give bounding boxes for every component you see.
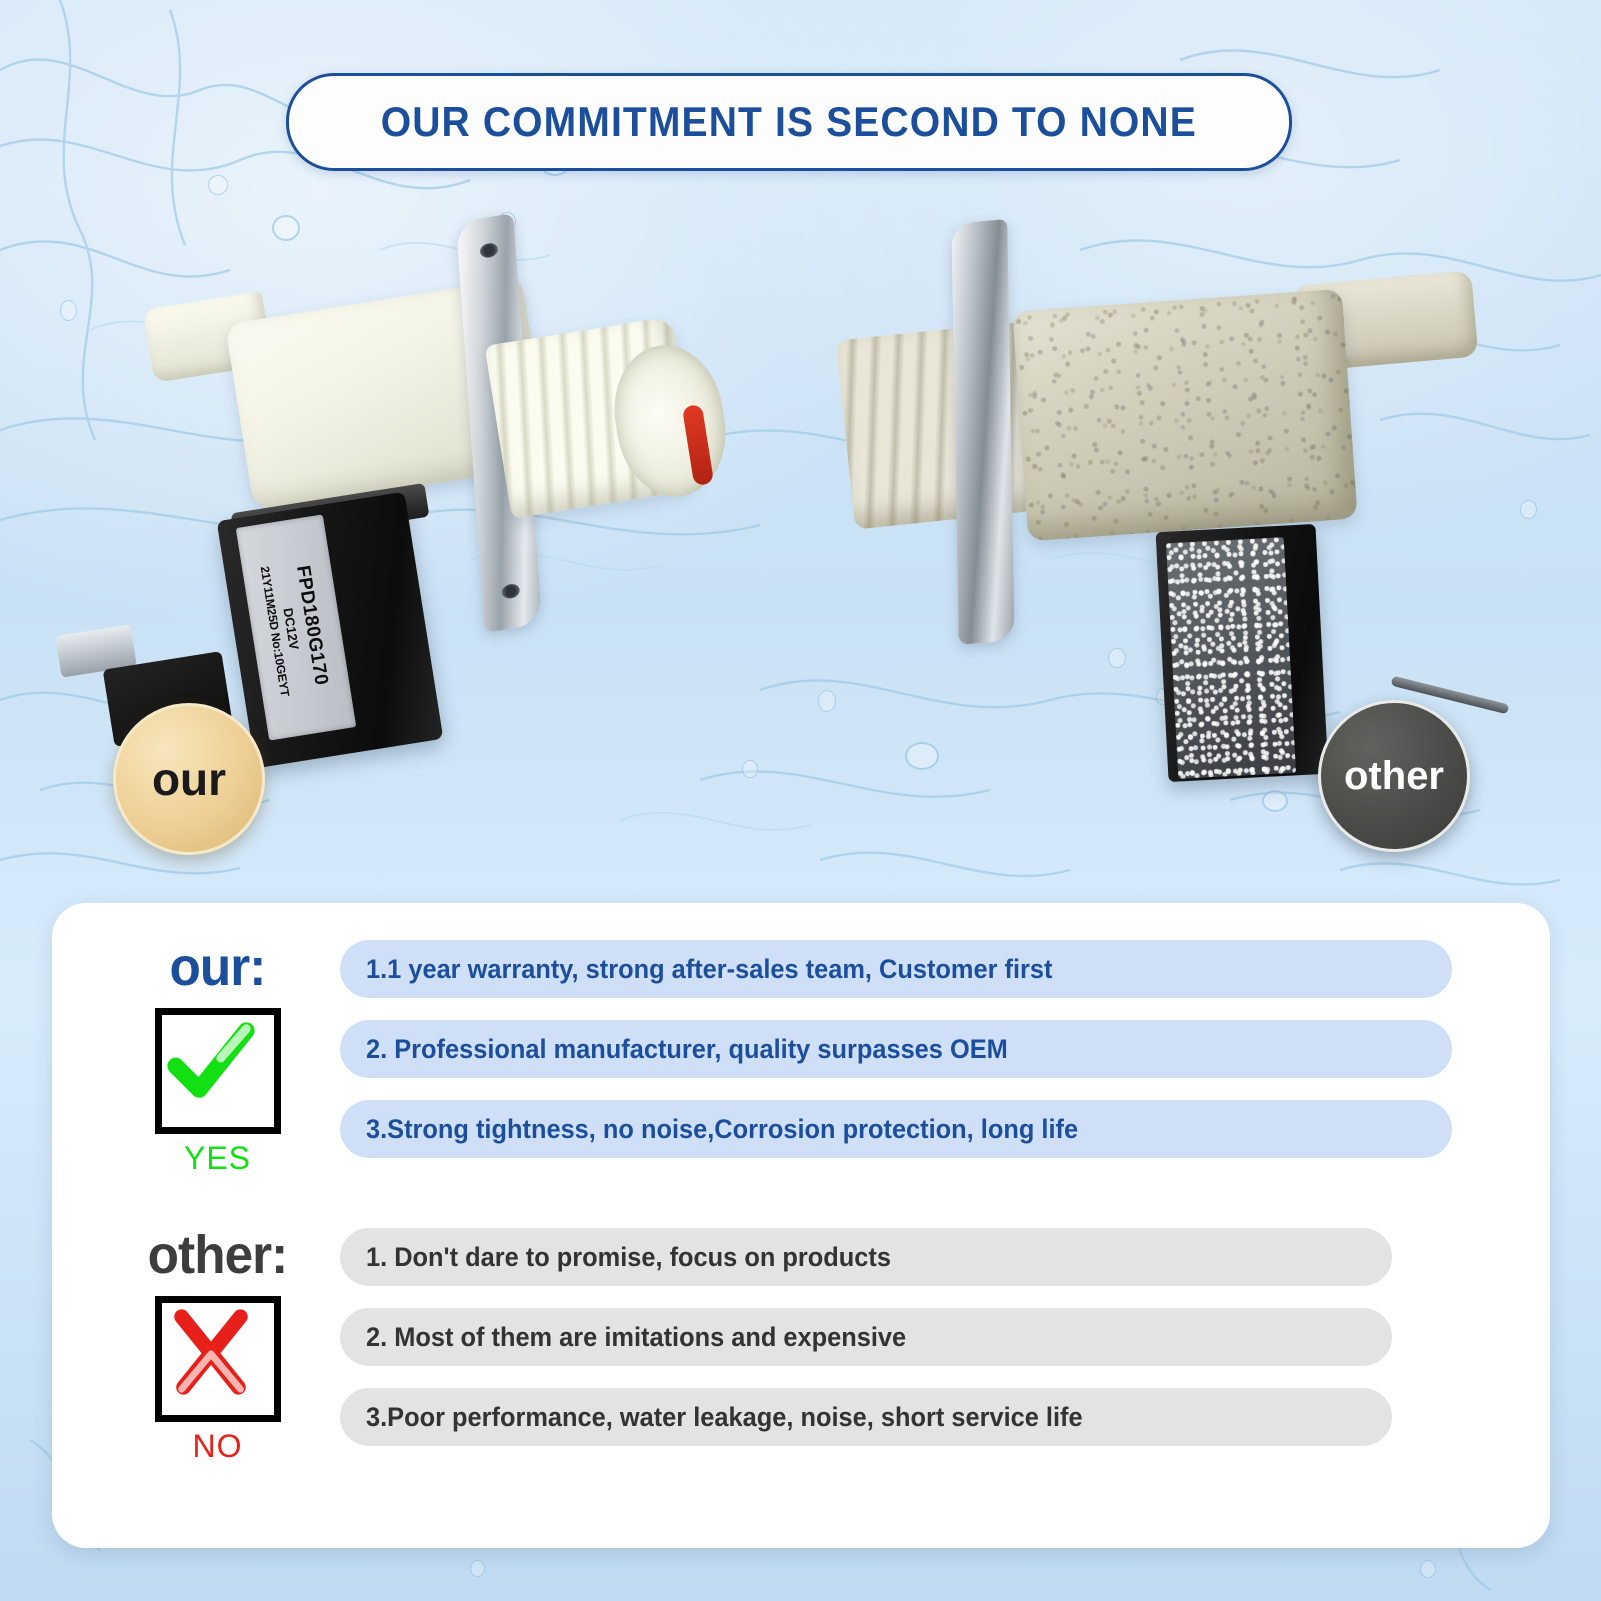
verdict-column-others: other: NO [95,1228,340,1468]
list-item: 3.Poor performance, water leakage, noise… [340,1388,1392,1446]
verdict-label-no: NO [193,1428,243,1465]
others-drawback-list: 1. Don't dare to promise, focus on produ… [340,1228,1392,1468]
verdict-label-yes: YES [184,1140,251,1177]
check-icon [162,1015,260,1113]
bracket-hole [480,242,499,259]
ours-heading: our: [170,940,266,994]
comparison-group-ours: our: YES 1.1 year warranty, strong after… [95,940,1452,1180]
list-item-text: 3.Strong tightness, no noise,Corrosion p… [366,1114,1078,1145]
water-drop [272,215,300,241]
bracket-hole [501,583,520,600]
list-item-text: 3.Poor performance, water leakage, noise… [366,1402,1083,1433]
badge-other: other [1318,700,1470,852]
badge-our: our [113,703,265,855]
water-drop [60,300,77,321]
water-drop [1520,500,1537,519]
page-title: OUR COMMITMENT IS SECOND TO NONE [381,98,1197,146]
others-heading: other: [148,1228,288,1282]
ours-benefit-list: 1.1 year warranty, strong after-sales te… [340,940,1452,1180]
list-item-text: 2. Professional manufacturer, quality su… [366,1034,1008,1065]
water-drop [1262,790,1288,812]
corrosion-texture [1012,289,1357,541]
check-box-frame [155,1008,281,1134]
infographic-canvas: OUR COMMITMENT IS SECOND TO NONE FPD180G… [0,0,1601,1601]
list-item: 1.1 year warranty, strong after-sales te… [340,940,1452,998]
other-valve-mounting-clip [951,219,1014,645]
cross-icon [162,1303,260,1401]
list-item-text: 1. Don't dare to promise, focus on produ… [366,1242,891,1273]
other-valve-body [1012,289,1357,541]
cross-box-frame [155,1296,281,1422]
water-drop [1108,648,1126,668]
list-item: 2. Professional manufacturer, quality su… [340,1020,1452,1078]
water-drop [208,175,228,195]
list-item: 1. Don't dare to promise, focus on produ… [340,1228,1392,1286]
list-item: 3.Strong tightness, no noise,Corrosion p… [340,1100,1452,1158]
verdict-column-ours: our: YES [95,940,340,1180]
other-valve-coil-plate [1166,537,1296,779]
water-drop [1420,1560,1436,1578]
header-banner: OUR COMMITMENT IS SECOND TO NONE [286,73,1292,171]
list-item-text: 1.1 year warranty, strong after-sales te… [366,954,1052,985]
water-drop [470,1560,485,1577]
water-drop [905,742,939,770]
water-drop [818,690,836,712]
water-drop [742,760,758,778]
comparison-group-others: other: NO 1. Don't dare to promise, focu… [95,1228,1392,1468]
list-item-text: 2. Most of them are imitations and expen… [366,1322,906,1353]
list-item: 2. Most of them are imitations and expen… [340,1308,1392,1366]
